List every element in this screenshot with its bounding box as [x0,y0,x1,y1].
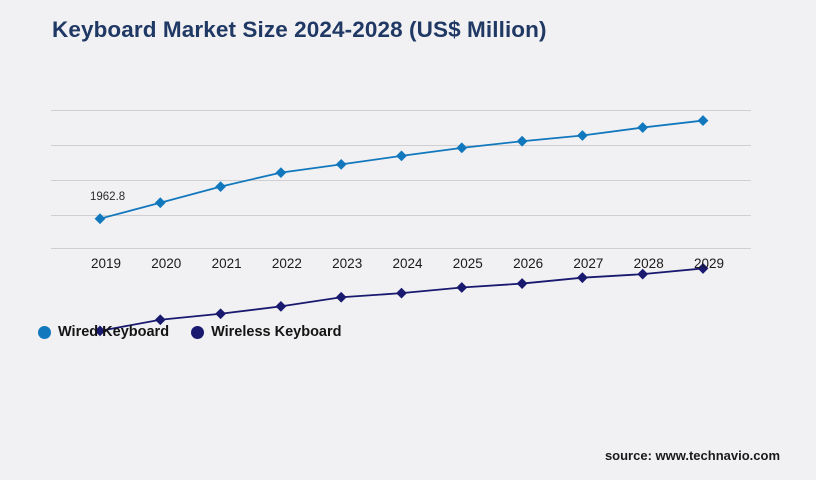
x-axis-tick-labels: 2019202020212022202320242025202620272028… [51,256,751,276]
x-tick-label: 2019 [91,256,121,271]
data-point-marker [456,142,467,153]
data-point-marker [517,278,528,289]
x-tick-label: 2024 [392,256,422,271]
chart-canvas: Keyboard Market Size 2024-2028 (US$ Mill… [0,0,816,480]
chart-legend: Wired Keyboard Wireless Keyboard [38,324,342,340]
data-point-marker [276,301,287,312]
plot-area: 1962.8 [51,108,751,249]
data-point-marker [276,167,287,178]
series-polyline [100,268,703,330]
data-point-marker [155,197,166,208]
source-note: source: www.technavio.com [605,448,780,463]
data-point-marker [396,288,407,299]
data-point-marker [698,115,709,126]
data-point-marker [95,213,106,224]
chart-title: Keyboard Market Size 2024-2028 (US$ Mill… [52,17,547,43]
data-point-marker [215,181,226,192]
x-tick-label: 2027 [573,256,603,271]
legend-item-wireless[interactable]: Wireless Keyboard [191,324,341,340]
series-plot [51,108,751,253]
x-tick-label: 2025 [453,256,483,271]
data-point-marker [336,159,347,170]
data-point-marker [456,282,467,293]
legend-dot-icon-wired [38,326,51,339]
data-label-1962-8: 1962.8 [90,191,125,203]
data-point-marker [577,130,588,141]
legend-label-wired: Wired Keyboard [58,324,169,340]
x-tick-label: 2022 [272,256,302,271]
data-point-marker [396,150,407,161]
x-tick-label: 2028 [634,256,664,271]
data-point-marker [637,122,648,133]
series-polyline [100,121,703,219]
x-tick-label: 2029 [694,256,724,271]
legend-dot-icon-wireless [191,326,204,339]
data-point-marker [517,136,528,147]
x-tick-label: 2021 [212,256,242,271]
x-tick-label: 2023 [332,256,362,271]
series-line-wired [95,115,709,224]
legend-item-wired[interactable]: Wired Keyboard [38,324,169,340]
x-tick-label: 2020 [151,256,181,271]
data-point-marker [336,292,347,303]
legend-label-wireless: Wireless Keyboard [211,324,341,340]
data-point-marker [215,308,226,319]
x-tick-label: 2026 [513,256,543,271]
